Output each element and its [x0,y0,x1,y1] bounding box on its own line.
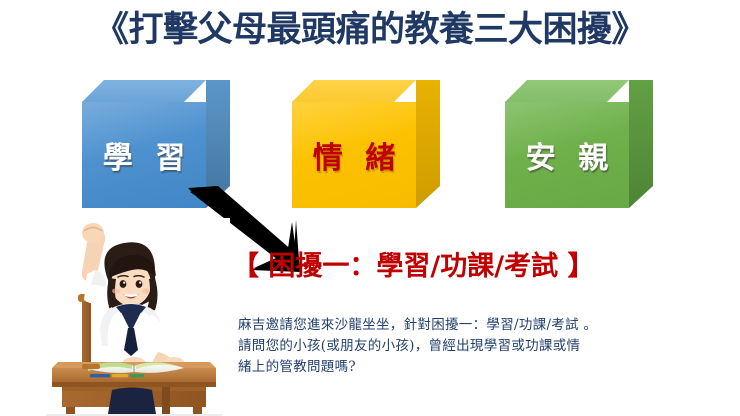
cube-care-label: 安 親 [505,102,629,208]
paragraph-line-1: 麻吉邀請您進來沙龍坐坐，針對困擾一：學習/功課/考試 。 [238,315,734,336]
page-title: 《打擊父母最頭痛的教養三大困擾》 [0,8,740,52]
cube-emotion[interactable]: 情 緒 [292,80,440,208]
paragraph-line-2: 請問您的小孩(或朋友的小孩)，曾經出現學習或功課或情 [238,336,734,357]
cube-emotion-side-face [416,80,440,208]
cube-after-school-care[interactable]: 安 親 [505,80,653,208]
body-paragraph: 麻吉邀請您進來沙龍坐坐，針對困擾一：學習/功課/考試 。 請問您的小孩(或朋友的… [238,315,734,378]
callout-problem-one: 【 困擾一：學習/功課/考試 】 [232,250,595,284]
slide-canvas: 《打擊父母最頭痛的教養三大困擾》 學 習 情 緒 安 親 【 困擾一：學習/功課… [0,0,740,416]
paragraph-line-3: 緒上的管教問題嗎? [238,357,734,378]
girl-raising-hand-at-desk-photo [38,218,230,416]
cube-emotion-label: 情 緒 [292,102,416,208]
cube-care-side-face [629,80,653,208]
